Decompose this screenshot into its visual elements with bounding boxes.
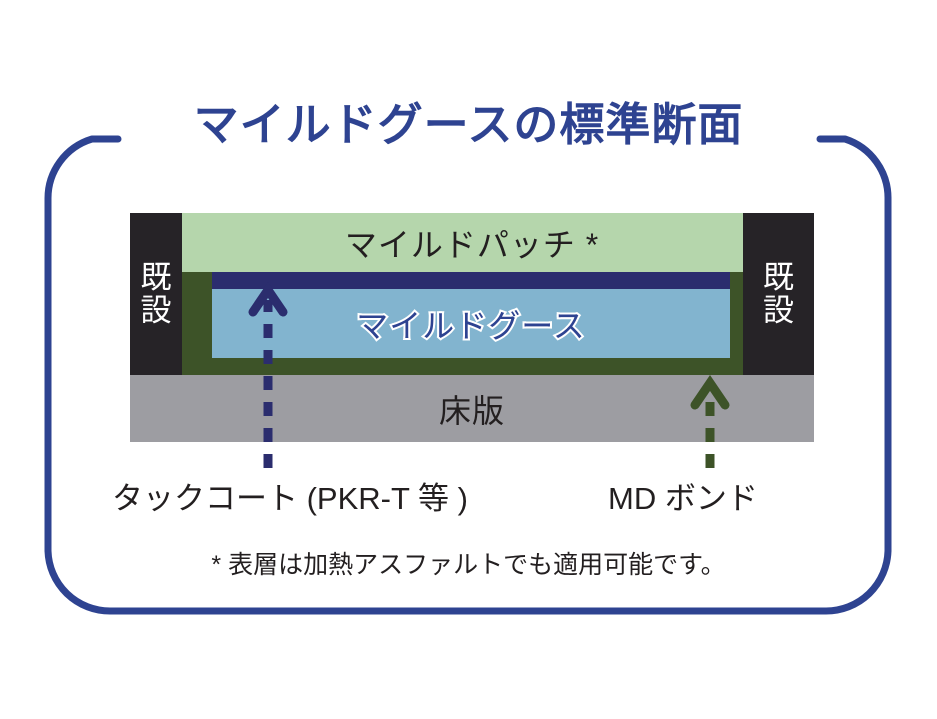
footnote-text: * 表層は加熱アスファルトでも適用可能です。 [0, 545, 937, 581]
layer-deck-slab: 床版 [130, 375, 814, 442]
existing-pavement-right-line2: 設 [763, 294, 794, 327]
callout-label-md-bond: MD ボンド [608, 473, 758, 518]
layer-mastic: マイルドグース [212, 289, 730, 358]
existing-pavement-left-line2: 設 [141, 294, 172, 327]
layer-surface-course: マイルドパッチ * [182, 213, 762, 272]
layer-surface-course-label: マイルドパッチ * [345, 220, 599, 266]
existing-pavement-right: 既 設 [743, 213, 814, 375]
page-title: マイルドグースの標準断面 [0, 100, 937, 150]
cross-section-diagram: マイルドパッチ * マイルドグース 床版 既 設 既 設 [130, 213, 814, 442]
existing-pavement-left-line1: 既 [141, 261, 172, 294]
existing-pavement-right-line1: 既 [763, 261, 794, 294]
existing-pavement-left: 既 設 [130, 213, 182, 375]
layer-tack-coat [212, 272, 730, 289]
callout-label-tack-coat: タックコート (PKR-T 等 ) [112, 473, 468, 518]
layer-deck-slab-label: 床版 [439, 386, 505, 432]
layer-mastic-label: マイルドグース [356, 301, 585, 347]
diagram-canvas: マイルドグースの標準断面 マイルドパッチ * マイルドグース 床版 既 設 既 … [0, 0, 937, 719]
